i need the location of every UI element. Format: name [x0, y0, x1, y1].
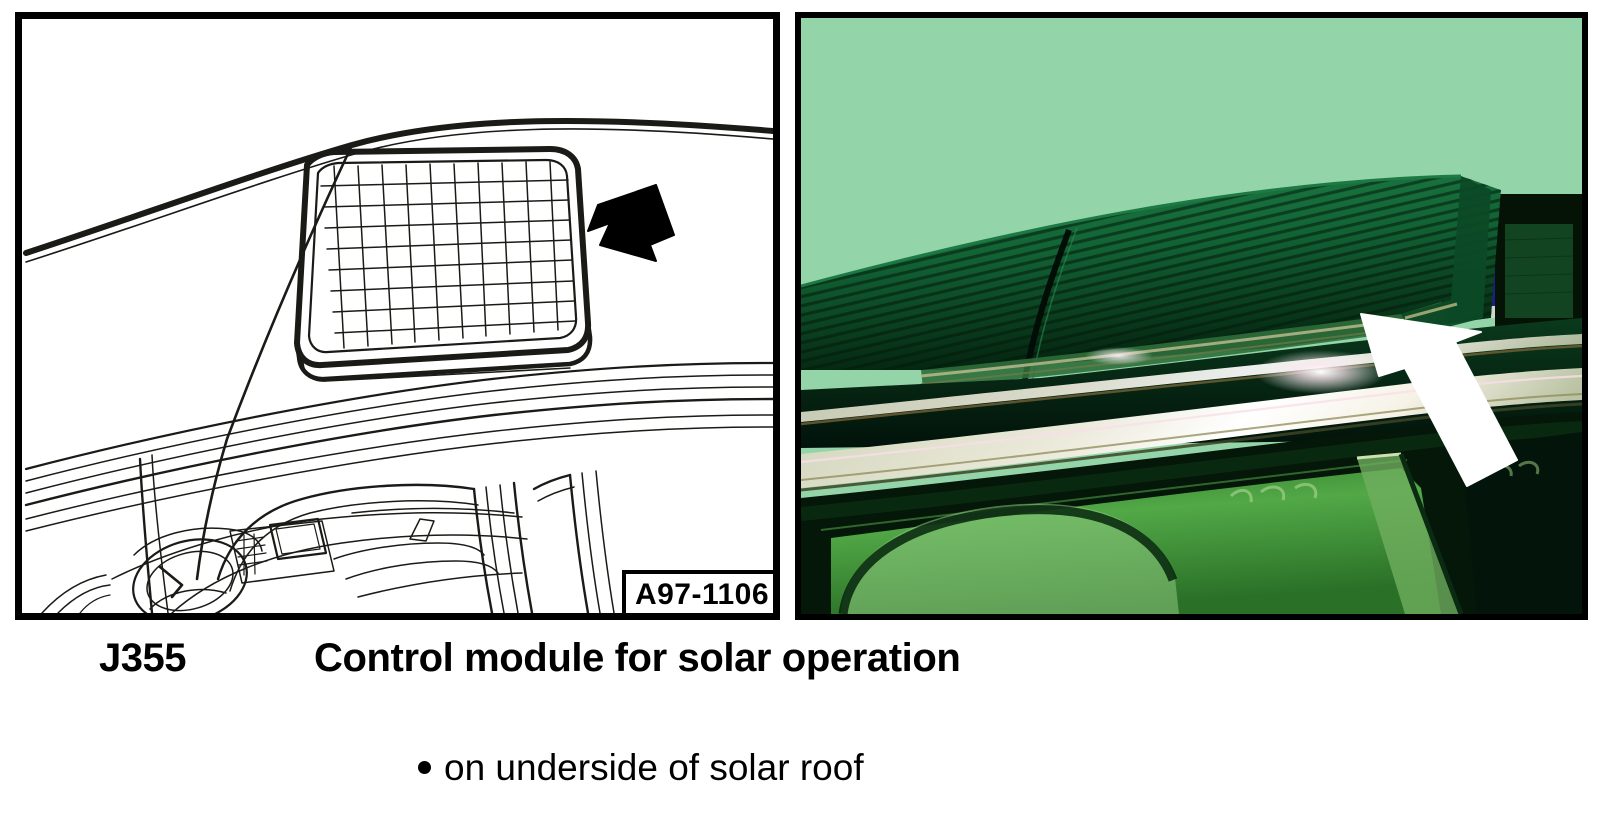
notes-list: on underside of solar roof	[0, 747, 1600, 797]
illustration-drawing	[22, 19, 773, 613]
caption: J355 Control module for solar operation	[0, 636, 1600, 692]
bullet-icon	[418, 761, 431, 774]
figure-panels: A97-1106	[0, 0, 1600, 625]
caption-component-title: Control module for solar operation	[314, 636, 960, 681]
photo-image	[801, 18, 1582, 614]
illustration-code-label: A97-1106	[622, 570, 780, 620]
note-text: on underside of solar roof	[444, 747, 864, 788]
illustration-panel: A97-1106	[15, 12, 780, 620]
note-item: on underside of solar roof	[418, 747, 864, 789]
caption-component-code: J355	[99, 636, 186, 681]
photo-panel: US97-1024	[795, 12, 1588, 620]
